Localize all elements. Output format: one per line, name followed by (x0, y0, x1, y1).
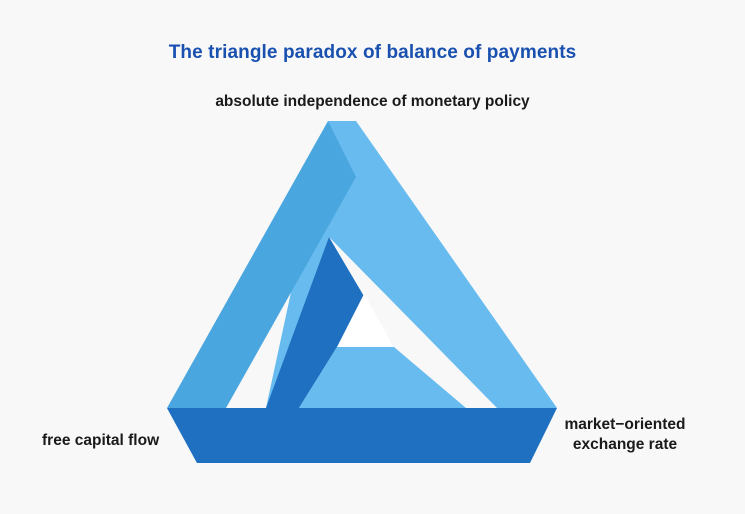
node-label-capital-flow: free capital flow (42, 431, 159, 451)
node-label-monetary-policy: absolute independence of monetary policy (0, 92, 745, 112)
triangle-face-bottom (167, 408, 557, 463)
node-label-exchange-rate-line2: exchange rate (557, 435, 693, 455)
node-label-exchange-rate-line1: market−oriented (557, 415, 693, 435)
node-label-exchange-rate: market−oriented exchange rate (557, 415, 693, 455)
diagram-canvas: The triangle paradox of balance of payme… (0, 0, 745, 514)
